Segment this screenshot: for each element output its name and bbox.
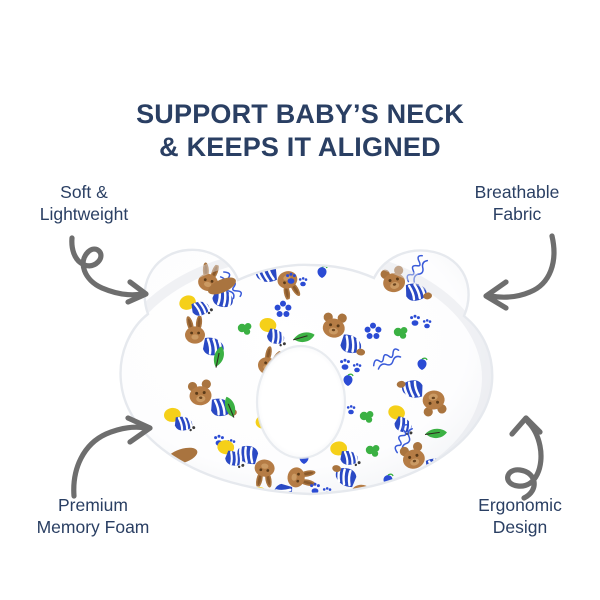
curved-arrow-left-down-icon bbox=[460, 228, 568, 320]
infographic-canvas: SUPPORT BABY’S NECK & KEEPS IT ALIGNED bbox=[0, 0, 600, 600]
feature-label-breathable-fabric: Breathable Fabric bbox=[446, 181, 588, 226]
feature-line-2: Lightweight bbox=[14, 203, 154, 225]
feature-line-1: Breathable bbox=[446, 181, 588, 203]
headline-line-1: SUPPORT BABY’S NECK bbox=[136, 99, 464, 129]
feature-line-2: Fabric bbox=[446, 203, 588, 225]
curved-arrow-right-up-icon bbox=[66, 414, 174, 502]
feature-line-2: Design bbox=[444, 516, 596, 538]
page-title: SUPPORT BABY’S NECK & KEEPS IT ALIGNED bbox=[0, 98, 600, 164]
feature-line-2: Memory Foam bbox=[12, 516, 174, 538]
headline-line-2: & KEEPS IT ALIGNED bbox=[0, 131, 600, 164]
feature-line-1: Soft & bbox=[14, 181, 154, 203]
curly-arrow-right-down-icon bbox=[58, 228, 170, 320]
feature-label-soft-lightweight: Soft & Lightweight bbox=[14, 181, 154, 226]
curly-arrow-left-up-icon bbox=[462, 414, 570, 502]
